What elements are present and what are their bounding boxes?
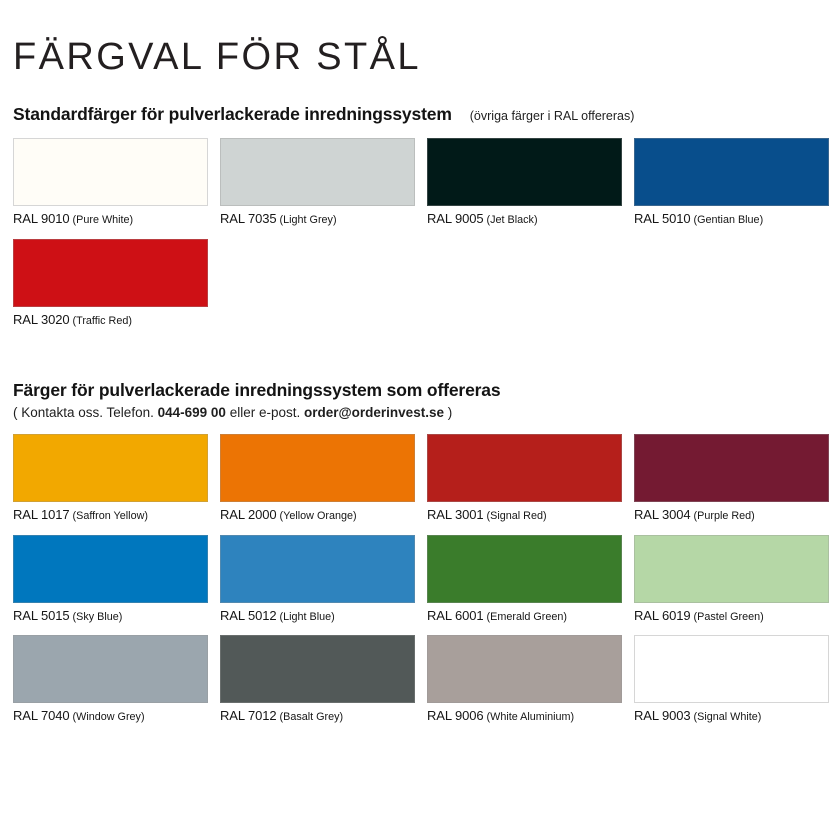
swatch-label: RAL 7012 (Basalt Grey) [220,709,415,724]
swatch-color-name: (Window Grey) [70,711,145,723]
color-swatch[interactable] [427,434,622,502]
swatch-ral-code: RAL 5015 [13,608,70,623]
swatch-color-name: (Yellow Orange) [277,510,357,522]
color-chart-page: FÄRGVAL FÖR STÅL Standardfärger för pulv… [0,0,840,840]
swatch-cell[interactable]: RAL 9005 (Jet Black) [427,138,622,227]
swatch-ral-code: RAL 9003 [634,708,691,723]
color-swatch[interactable] [634,138,829,206]
swatch-label: RAL 5010 (Gentian Blue) [634,212,829,227]
swatch-ral-code: RAL 7040 [13,708,70,723]
swatch-color-name: (Traffic Red) [70,315,132,327]
swatch-label: RAL 9010 (Pure White) [13,212,208,227]
swatch-color-name: (Light Grey) [277,214,337,226]
swatch-ral-code: RAL 5012 [220,608,277,623]
swatch-ral-code: RAL 9006 [427,708,484,723]
swatch-label: RAL 1017 (Saffron Yellow) [13,508,208,523]
contact-phone[interactable]: 044-699 00 [158,405,226,420]
swatch-color-name: (Sky Blue) [70,611,123,623]
color-swatch[interactable] [634,635,829,703]
swatch-grid-standard: RAL 9010 (Pure White)RAL 7035 (Light Gre… [13,138,827,340]
swatch-ral-code: RAL 9005 [427,211,484,226]
color-swatch[interactable] [634,535,829,603]
swatch-ral-code: RAL 5010 [634,211,691,226]
swatch-cell[interactable]: RAL 6001 (Emerald Green) [427,535,622,624]
color-swatch[interactable] [220,635,415,703]
swatch-color-name: (Pure White) [70,214,134,226]
color-swatch[interactable] [220,138,415,206]
color-swatch[interactable] [220,434,415,502]
swatch-cell[interactable]: RAL 6019 (Pastel Green) [634,535,829,624]
swatch-label: RAL 7040 (Window Grey) [13,709,208,724]
section-title-offered: Färger för pulverlackerade inredningssys… [13,380,827,401]
swatch-cell[interactable]: RAL 9003 (Signal White) [634,635,829,724]
section-header-standard: Standardfärger för pulverlackerade inred… [13,104,827,125]
swatch-cell[interactable]: RAL 1017 (Saffron Yellow) [13,434,208,523]
swatch-color-name: (Light Blue) [277,611,335,623]
contact-suffix: ) [448,405,453,420]
swatch-label: RAL 2000 (Yellow Orange) [220,508,415,523]
swatch-label: RAL 3001 (Signal Red) [427,508,622,523]
color-swatch[interactable] [634,434,829,502]
swatch-ral-code: RAL 6001 [427,608,484,623]
contact-middle: eller e-post. [230,405,301,420]
section-title-standard: Standardfärger för pulverlackerade inred… [13,104,452,125]
color-swatch[interactable] [13,138,208,206]
swatch-cell[interactable]: RAL 7040 (Window Grey) [13,635,208,724]
swatch-color-name: (Signal Red) [484,510,547,522]
swatch-color-name: (White Aluminium) [484,711,575,723]
swatch-label: RAL 9005 (Jet Black) [427,212,622,227]
swatch-label: RAL 5015 (Sky Blue) [13,609,208,624]
swatch-ral-code: RAL 7012 [220,708,277,723]
swatch-cell[interactable]: RAL 7035 (Light Grey) [220,138,415,227]
swatch-color-name: (Saffron Yellow) [70,510,148,522]
swatch-cell[interactable]: RAL 5015 (Sky Blue) [13,535,208,624]
swatch-ral-code: RAL 3001 [427,507,484,522]
contact-line: ( Kontakta oss. Telefon. 044-699 00 elle… [13,405,827,420]
swatch-color-name: (Pastel Green) [691,611,764,623]
swatch-color-name: (Purple Red) [691,510,755,522]
swatch-color-name: (Basalt Grey) [277,711,344,723]
color-swatch[interactable] [13,239,208,307]
swatch-cell[interactable]: RAL 9006 (White Aluminium) [427,635,622,724]
contact-email[interactable]: order@orderinvest.se [304,405,444,420]
swatch-label: RAL 7035 (Light Grey) [220,212,415,227]
color-swatch[interactable] [220,535,415,603]
swatch-color-name: (Jet Black) [484,214,538,226]
page-title: FÄRGVAL FÖR STÅL [13,0,827,78]
swatch-label: RAL 5012 (Light Blue) [220,609,415,624]
swatch-ral-code: RAL 3004 [634,507,691,522]
color-swatch[interactable] [13,635,208,703]
swatch-label: RAL 3020 (Traffic Red) [13,313,208,328]
swatch-cell[interactable]: RAL 5010 (Gentian Blue) [634,138,829,227]
swatch-cell[interactable]: RAL 5012 (Light Blue) [220,535,415,624]
swatch-ral-code: RAL 3020 [13,312,70,327]
swatch-label: RAL 6019 (Pastel Green) [634,609,829,624]
color-swatch[interactable] [13,535,208,603]
swatch-label: RAL 3004 (Purple Red) [634,508,829,523]
swatch-ral-code: RAL 2000 [220,507,277,522]
color-swatch[interactable] [427,138,622,206]
swatch-ral-code: RAL 6019 [634,608,691,623]
swatch-ral-code: RAL 1017 [13,507,70,522]
section-note-standard: (övriga färger i RAL offereras) [470,109,635,123]
color-swatch[interactable] [427,635,622,703]
swatch-label: RAL 6001 (Emerald Green) [427,609,622,624]
swatch-cell[interactable]: RAL 3004 (Purple Red) [634,434,829,523]
contact-prefix: ( Kontakta oss. Telefon. [13,405,154,420]
color-swatch[interactable] [13,434,208,502]
swatch-label: RAL 9006 (White Aluminium) [427,709,622,724]
swatch-ral-code: RAL 7035 [220,211,277,226]
swatch-color-name: (Signal White) [691,711,762,723]
swatch-color-name: (Emerald Green) [484,611,567,623]
swatch-cell[interactable]: RAL 7012 (Basalt Grey) [220,635,415,724]
swatch-color-name: (Gentian Blue) [691,214,764,226]
swatch-cell[interactable]: RAL 3020 (Traffic Red) [13,239,208,328]
swatch-cell[interactable]: RAL 2000 (Yellow Orange) [220,434,415,523]
swatch-ral-code: RAL 9010 [13,211,70,226]
color-swatch[interactable] [427,535,622,603]
swatch-cell[interactable]: RAL 3001 (Signal Red) [427,434,622,523]
swatch-label: RAL 9003 (Signal White) [634,709,829,724]
swatch-cell[interactable]: RAL 9010 (Pure White) [13,138,208,227]
swatch-grid-offered: RAL 1017 (Saffron Yellow)RAL 2000 (Yello… [13,434,827,737]
section-header-offered: Färger för pulverlackerade inredningssys… [13,380,827,420]
